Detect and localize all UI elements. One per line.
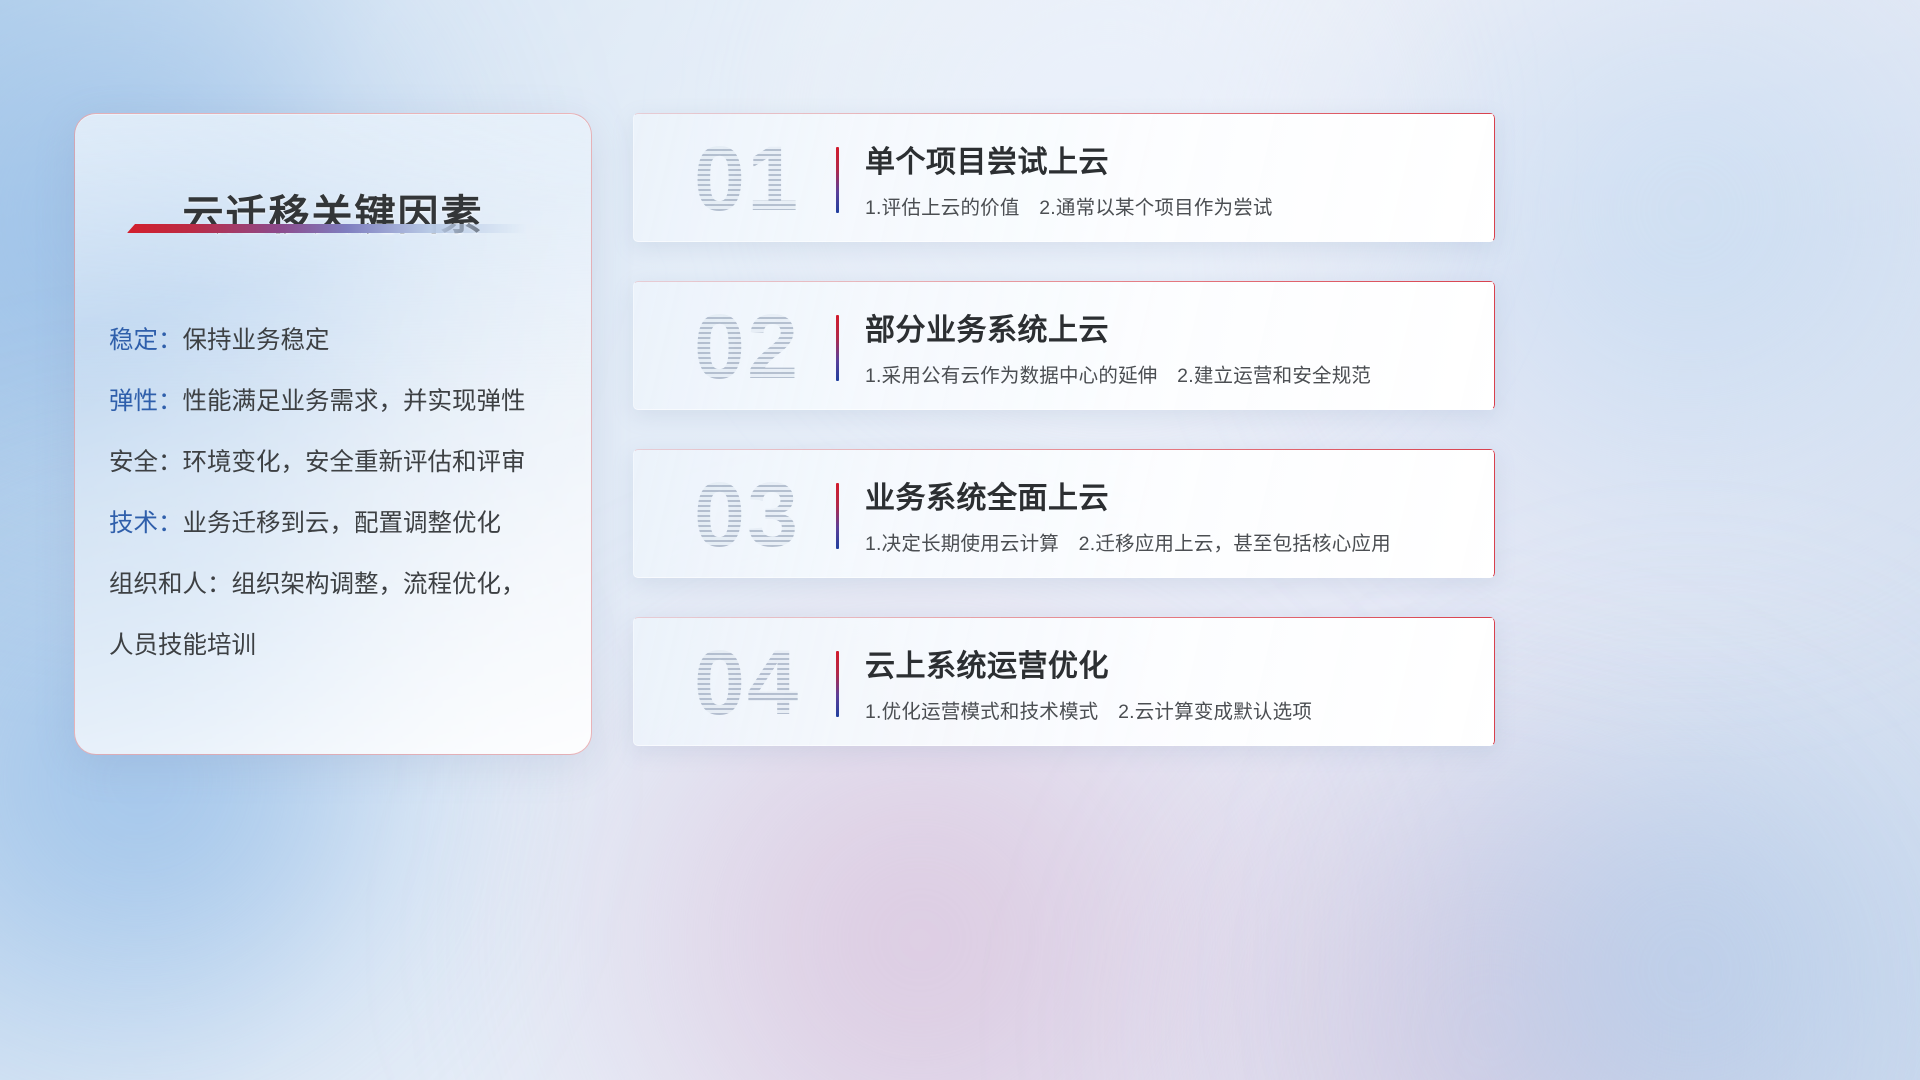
factor-text: 环境变化，安全重新评估和评审 — [183, 449, 526, 476]
card-subtitle: 1.采用公有云作为数据中心的延伸 2.建立运营和安全规范 — [865, 359, 1371, 388]
factor-label: 弹性： — [109, 388, 183, 415]
factor-text: 人员技能培训 — [109, 632, 256, 659]
factor-row: 组织和人：组织架构调整，流程优化， — [109, 554, 565, 615]
factor-row: 弹性：性能满足业务需求，并实现弹性 — [109, 371, 565, 432]
card-number: 03 — [659, 465, 835, 565]
card-subtitle: 1.决定长期使用云计算 2.迁移应用上云，甚至包括核心应用 — [865, 527, 1391, 556]
card-title: 业务系统全面上云 — [865, 473, 1109, 517]
card-accent-bar — [836, 651, 839, 717]
factor-row: 安全：环境变化，安全重新评估和评审 — [109, 432, 565, 493]
slide-stage: 云迁移关键因素 稳定：保持业务稳定弹性：性能满足业务需求，并实现弹性安全：环境变… — [0, 0, 1920, 1080]
stage-card-03[interactable]: 0303业务系统全面上云1.决定长期使用云计算 2.迁移应用上云，甚至包括核心应… — [633, 449, 1495, 578]
card-number: 04 — [659, 633, 835, 733]
stage-card-list: 0101单个项目尝试上云1.评估上云的价值 2.通常以某个项目作为尝试0202部… — [633, 113, 1495, 785]
title-underline-accent — [127, 224, 527, 233]
card-title: 云上系统运营优化 — [865, 641, 1109, 685]
card-number: 01 — [659, 129, 835, 229]
card-title: 单个项目尝试上云 — [865, 137, 1109, 181]
stage-card-04[interactable]: 0404云上系统运营优化1.优化运营模式和技术模式 2.云计算变成默认选项 — [633, 617, 1495, 746]
stage-card-02[interactable]: 0202部分业务系统上云1.采用公有云作为数据中心的延伸 2.建立运营和安全规范 — [633, 281, 1495, 410]
factor-text: 业务迁移到云，配置调整优化 — [183, 510, 502, 537]
factor-row: 稳定：保持业务稳定 — [109, 310, 565, 371]
factor-text: 性能满足业务需求，并实现弹性 — [183, 388, 526, 415]
factor-label: 稳定： — [109, 327, 183, 354]
card-subtitle: 1.评估上云的价值 2.通常以某个项目作为尝试 — [865, 191, 1273, 220]
factor-row: 技术：业务迁移到云，配置调整优化 — [109, 493, 565, 554]
card-accent-bar — [836, 315, 839, 381]
stage-card-01[interactable]: 0101单个项目尝试上云1.评估上云的价值 2.通常以某个项目作为尝试 — [633, 113, 1495, 242]
card-accent-bar — [836, 483, 839, 549]
factor-list: 稳定：保持业务稳定弹性：性能满足业务需求，并实现弹性安全：环境变化，安全重新评估… — [109, 310, 565, 676]
factor-label: 组织和人： — [109, 571, 232, 598]
factor-label: 安全： — [109, 449, 183, 476]
key-factors-panel: 云迁移关键因素 稳定：保持业务稳定弹性：性能满足业务需求，并实现弹性安全：环境变… — [74, 113, 592, 755]
card-title: 部分业务系统上云 — [865, 305, 1109, 349]
card-accent-bar — [836, 147, 839, 213]
factor-label: 技术： — [109, 510, 183, 537]
card-number: 02 — [659, 297, 835, 397]
factor-row: 人员技能培训 — [109, 615, 565, 676]
factor-text: 保持业务稳定 — [183, 327, 330, 354]
card-subtitle: 1.优化运营模式和技术模式 2.云计算变成默认选项 — [865, 695, 1312, 724]
factor-text: 组织架构调整，流程优化， — [232, 571, 526, 598]
